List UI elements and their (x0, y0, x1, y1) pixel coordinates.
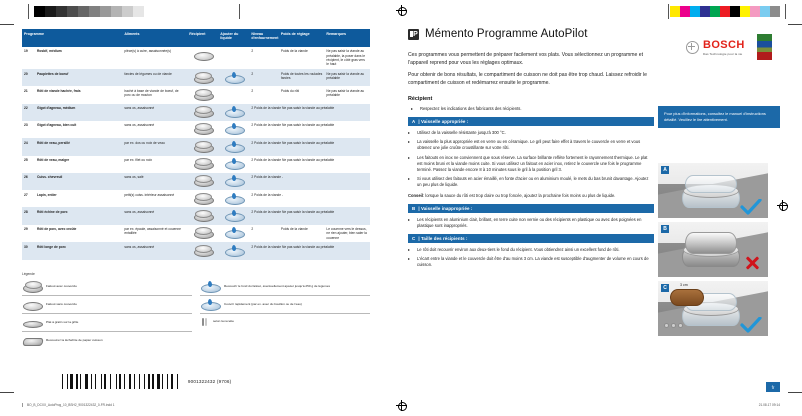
cell-recipient (187, 207, 218, 224)
cell-aliments: petit(s) cuiss. intérieur assaisonné (122, 190, 187, 207)
pot-lid-icon (193, 245, 213, 256)
cell-niveau: 2 (249, 86, 278, 103)
cell-recipient (187, 225, 218, 243)
cell-aliments: pièce(s) à cuire, assaisonnée(s) (122, 47, 187, 69)
cell-programme: 26Cuiss. chevreuil (22, 173, 122, 190)
column-header-poids: Poids de réglage (279, 29, 325, 47)
registration-mark-right-icon (777, 200, 788, 211)
cell-liquide (218, 225, 249, 243)
pot-lid-icon (193, 106, 213, 117)
crop-mark (788, 24, 802, 25)
drop-icon (224, 158, 244, 169)
legend-column-left: Faitout avec couvercleFaitout sans couve… (22, 278, 192, 349)
registration-mark-top-icon (396, 5, 407, 16)
grey-ramp (34, 6, 155, 17)
legend-row-label: Couvrir rapidement (par ex. avec du boui… (224, 302, 302, 306)
legend-row: Recouvrez la lèchefrite de papier cuisso… (22, 332, 192, 349)
table-header-row: Programme Aliments Récipient Ajouter du … (22, 29, 370, 47)
cell-recipient (187, 190, 218, 207)
recipient-heading: Récipient (408, 96, 654, 102)
conseil-line: Conseil: lorsque la sauce du rôti est tr… (408, 193, 654, 199)
cell-aliments: haché à base de viande de boeuf, de porc… (122, 86, 187, 103)
intro-text: Ces programmes vous permettent de prépar… (408, 51, 654, 87)
cell-remarques: Ne pas saisir la viande au préalable, la… (324, 47, 370, 69)
drop-icon (224, 245, 244, 256)
arrow-bullet-icon: ▸ (408, 139, 413, 151)
legend-row: Faitout avec couvercle (22, 278, 192, 296)
pot-lid-icon (193, 158, 213, 169)
section-a-bullets: ▸Utilisez de la vaisselle résistante jus… (408, 130, 654, 189)
book-icon (200, 317, 209, 326)
cell-programme: 25Rôti de veau, maigre (22, 156, 122, 173)
cell-recipient (187, 156, 218, 173)
section-c-letter: C (412, 236, 417, 241)
table-row: 25Rôti de veau, maigrepar ex. filet ou n… (22, 156, 370, 173)
section-bullet-text: L'écart entre la viande et le couvercle … (417, 256, 654, 268)
cell-liquide (218, 47, 249, 69)
table-body: 19Rosbif, médiumpièce(s) à cuire, assais… (22, 47, 370, 260)
column-header-programme: Programme (22, 29, 122, 47)
drop-icon (224, 210, 244, 221)
cell-aliments: par ex. épaule, assaisonné et couenne en… (122, 225, 187, 243)
drop-icon (224, 123, 244, 134)
print-datestamp: 21.08.17 09:14 (759, 403, 780, 407)
cell-liquide (218, 104, 249, 121)
arrow-bullet-icon: ▸ (411, 106, 416, 112)
cell-poids: Poids de la viande (279, 225, 325, 243)
drop-icon (224, 141, 244, 152)
section-bullet-text: Si vous utilisez des faitouts en acier é… (417, 176, 654, 188)
program-badge-icon: P (408, 29, 419, 40)
cell-aliments: sans os, assaisonné (122, 104, 187, 121)
table-row: 27Lapin, entierpetit(s) cuiss. intérieur… (22, 190, 370, 207)
section-bullet: ▸La vaisselle la plus appropriée est en … (408, 139, 654, 151)
color-bar (670, 6, 780, 17)
programme-table-section: Programme Aliments Récipient Ajouter du … (22, 29, 370, 260)
conseil-text: : lorsque la sauce du rôti est trop clai… (423, 193, 615, 198)
column-header-remarques: Remarques (324, 29, 370, 47)
programme-table: Programme Aliments Récipient Ajouter du … (22, 29, 370, 260)
cell-programme: 20Paupiettes de boeuf (22, 69, 122, 86)
baking-tray-icon (22, 335, 42, 346)
brand-slogan: Das Technologie pour la vie (703, 53, 745, 56)
legend-row-label: Faitout avec couvercle (46, 284, 77, 288)
table-row: 21Rôti de viande hachée, fraishaché à ba… (22, 86, 370, 103)
figure-c-measure-label: 3 cm (680, 283, 688, 287)
legend-section: Légende Faitout avec couvercleFaitout sa… (22, 272, 370, 349)
cell-liquide (218, 190, 249, 207)
cell-merged-niveau-poids-remarques: 2 Poids de la viande Ne pas saisir la vi… (249, 121, 370, 138)
cell-aliments: par ex. filet ou noix (122, 156, 187, 173)
pot-lid-icon (22, 281, 42, 292)
drop-icon (224, 175, 244, 186)
section-b-letter: B (412, 206, 417, 211)
barcode-number: 9001322432 (9706) (188, 379, 232, 384)
cell-niveau: 2 (249, 47, 278, 69)
cell-merged-niveau-poids-remarques: 2 Poids de la viande - (249, 173, 370, 190)
cell-remarques: Ne pas saisir la viande au préalable (324, 69, 370, 86)
cell-merged-niveau-poids-remarques: 2 Poids de la viande Ne pas saisir la vi… (249, 104, 370, 121)
cell-programme: 30Rôti longe de porc (22, 242, 122, 259)
table-row: 20Paupiettes de boeuffarcies de légumes … (22, 69, 370, 86)
check-mark-icon (740, 317, 762, 333)
pot-lid-icon (193, 210, 213, 221)
cell-programme: 22Gigot d'agneau, médium (22, 104, 122, 121)
cell-poids: Poids de la viande (279, 47, 325, 69)
drop-icon (224, 72, 244, 83)
cell-programme: 21Rôti de viande hachée, frais (22, 86, 122, 103)
cell-recipient (187, 138, 218, 155)
drop-icon (200, 281, 220, 292)
cell-aliments: par ex. dos ou noix de veau (122, 138, 187, 155)
pot-lid-icon (193, 175, 213, 186)
title-row: P Mémento Programme AutoPilot (408, 28, 654, 40)
section-bullet-text: Utilisez de la vaisselle résistante jusq… (417, 130, 506, 136)
legend-title: Légende (22, 272, 370, 276)
cell-poids: Poids de toutes les roulades farcies (279, 69, 325, 86)
section-a-label: Vaisselle appropriée : (421, 119, 468, 124)
section-bullet-text: Le rôti doit recouvrir environ aux deux-… (417, 247, 620, 253)
pot-nolid-icon (22, 299, 42, 310)
legend-row-label: Plat à gratin sur la grille (46, 320, 78, 324)
cell-programme: 29Rôti de porc, avec croûte (22, 225, 122, 243)
section-bullet-text: La vaisselle la plus appropriée est en v… (417, 139, 654, 151)
page-root: Programme Aliments Récipient Ajouter du … (0, 0, 802, 416)
section-c-label: Taille des récipients : (421, 236, 468, 241)
barcode-block: 9001322432 (9706) (62, 374, 231, 389)
figure-a-tag: A (661, 166, 669, 174)
legend-row-label: selon la recette (213, 319, 234, 323)
drop-icon (224, 227, 244, 238)
table-row: 30Rôti longe de porcsans os, assaisonné2… (22, 242, 370, 259)
recipient-bullet-text: Respectez les indications des fabricants… (420, 106, 522, 112)
figure-c: C 3 cm (658, 281, 768, 336)
crop-mark (788, 392, 802, 393)
crop-mark (0, 392, 14, 393)
cell-programme: 24Rôti de veau, persillé (22, 138, 122, 155)
cell-aliments: sans os, salé (122, 173, 187, 190)
section-bullet: ▸Si vous utilisez des faitouts en acier … (408, 176, 654, 188)
drop-icon (224, 193, 244, 204)
cell-liquide (218, 121, 249, 138)
plate-grill-icon (22, 317, 42, 328)
section-bullet: ▸Utilisez de la vaisselle résistante jus… (408, 130, 654, 136)
cell-liquide (218, 138, 249, 155)
table-row: 26Cuiss. chevreuilsans os, salé2 Poids d… (22, 173, 370, 190)
cell-programme: 27Lapin, entier (22, 190, 122, 207)
cell-recipient (187, 86, 218, 103)
cell-liquide (218, 156, 249, 173)
cell-niveau: 2 (249, 69, 278, 86)
print-filename: BO_B_DCXX_AutoProg_10_BSH2_9001322432_0-… (22, 403, 115, 407)
arrow-bullet-icon: ▸ (408, 155, 413, 174)
section-b-header: B | Vaisselle inappropriée : (408, 204, 654, 213)
glass-dish-icon (682, 175, 738, 205)
legend-row-label: Recouvrir le fond du faitout, éventuelle… (224, 284, 330, 288)
barcode-bars-icon (62, 374, 181, 389)
section-b-label: Vaisselle inappropriée : (421, 206, 472, 211)
table-row: 24Rôti de veau, persillépar ex. dos ou n… (22, 138, 370, 155)
pot-lid-icon (193, 89, 213, 100)
arrow-bullet-icon: ▸ (408, 217, 413, 229)
legend-row: Plat à gratin sur la grille (22, 314, 192, 332)
cell-recipient (187, 104, 218, 121)
cell-recipient (187, 242, 218, 259)
cell-merged-niveau-poids-remarques: 2 Poids de la viande Ne pas saisir la vi… (249, 242, 370, 259)
cell-aliments: sans os, assaisonné (122, 121, 187, 138)
figures-column: A B C 3 cm (658, 163, 768, 340)
table-row: 19Rosbif, médiumpièce(s) à cuire, assais… (22, 47, 370, 69)
legend-row: Recouvrir le fond du faitout, éventuelle… (200, 278, 370, 296)
page-title: Mémento Programme AutoPilot (425, 28, 588, 40)
pot-lid-icon (193, 141, 213, 152)
table-row: 28Rôti échine de porcsans os, assaisonné… (22, 207, 370, 224)
legend-column-right: Recouvrir le fond du faitout, éventuelle… (200, 278, 370, 349)
cell-remarques: Le couenne vers le dessus, ne rien ajout… (324, 225, 370, 243)
arrow-bullet-icon: ▸ (408, 176, 413, 188)
brand-name: BOSCH (703, 40, 745, 51)
figure-b: B (658, 222, 768, 277)
section-bullet: ▸L'écart entre la viande et le couvercle… (408, 256, 654, 268)
cell-liquide (218, 173, 249, 190)
metal-dish-icon (682, 234, 738, 264)
table-row: 22Gigot d'agneau, médiumsans os, assaiso… (22, 104, 370, 121)
arrow-bullet-icon: ▸ (408, 130, 413, 136)
section-b-bullets: ▸Les récipients en aluminium clair, bril… (408, 217, 654, 229)
crop-mark (0, 24, 14, 25)
control-knobs-icon (664, 323, 683, 328)
locale-badge: fr (766, 382, 780, 392)
cell-liquide (218, 207, 249, 224)
bosch-logo: BOSCH Das Technologie pour la vie (686, 40, 745, 56)
section-bullet-text: Les faitouts en inox ne conviennent que … (417, 155, 654, 174)
legend-row-label: Recouvrez la lèchefrite de papier cuisso… (46, 338, 103, 342)
cell-aliments: farcies de légumes ou de viande (122, 69, 187, 86)
pot-lid-icon (193, 72, 213, 83)
registration-mark-bottom-icon (396, 400, 407, 411)
column-header-ajouter-liquide: Ajouter du liquide (218, 29, 249, 47)
cell-liquide (218, 69, 249, 86)
cell-liquide (218, 86, 249, 103)
cell-aliments: sans os, assaisonné (122, 207, 187, 224)
legend-row: selon la recette (200, 314, 370, 329)
section-bullet: ▸Le rôti doit recouvrir environ aux deux… (408, 247, 654, 253)
cell-recipient (187, 69, 218, 86)
cell-recipient (187, 47, 218, 69)
figure-b-tag: B (661, 225, 669, 233)
section-bullet-text: Les récipients en aluminium clair, brill… (417, 217, 654, 229)
roast-meat-icon (670, 289, 704, 306)
cell-poids: Poids du rôti (279, 86, 325, 103)
table-row: 29Rôti de porc, avec croûtepar ex. épaul… (22, 225, 370, 243)
section-a-letter: A (412, 119, 417, 124)
legend-row: Faitout sans couvercle (22, 296, 192, 314)
drop-icon (200, 299, 220, 310)
pot-nolid-icon (193, 49, 213, 60)
content-column: P Mémento Programme AutoPilot Ces progra… (408, 28, 654, 271)
recipient-bullet: ▸ Respectez les indications des fabrican… (408, 106, 654, 112)
arrow-bullet-icon: ▸ (408, 256, 413, 268)
cell-aliments: sans os, assaisonné (122, 242, 187, 259)
column-header-recipient: Récipient (187, 29, 218, 47)
cell-remarques: Ne pas saisir la viande au préalable (324, 86, 370, 103)
info-box: Pour plus d'informations, consultez le m… (658, 106, 780, 128)
drop-icon (224, 106, 244, 117)
pot-lid-icon (193, 193, 213, 204)
column-header-niveau: Niveau d'enfournement (249, 29, 278, 47)
cross-mark-icon (744, 255, 760, 271)
intro-paragraph-1: Ces programmes vous permettent de prépar… (408, 51, 654, 68)
section-bullet: ▸Les faitouts en inox ne conviennent que… (408, 155, 654, 174)
cell-recipient (187, 173, 218, 190)
brand-color-flag (757, 34, 772, 60)
table-row: 23Gigot d'agneau, bien cuitsans os, assa… (22, 121, 370, 138)
section-c-bullets: ▸Le rôti doit recouvrir environ aux deux… (408, 247, 654, 269)
pot-lid-icon (193, 123, 213, 134)
cell-programme: 23Gigot d'agneau, bien cuit (22, 121, 122, 138)
figure-a: A (658, 163, 768, 218)
pot-lid-icon (193, 227, 213, 238)
column-header-aliments: Aliments (122, 29, 187, 47)
cell-merged-niveau-poids-remarques: 2 Poids de la viande Ne pas saisir la vi… (249, 156, 370, 173)
section-a-header: A | Vaisselle appropriée : (408, 117, 654, 126)
cell-programme: 28Rôti échine de porc (22, 207, 122, 224)
legend-row-label: Faitout sans couvercle (46, 302, 77, 306)
cell-merged-niveau-poids-remarques: 2 Poids de la viande - (249, 190, 370, 207)
check-mark-icon (740, 199, 762, 215)
bosch-anchor-icon (686, 41, 699, 54)
cell-merged-niveau-poids-remarques: 2 Poids de la viande Ne pas saisir la vi… (249, 138, 370, 155)
cell-programme: 19Rosbif, médium (22, 47, 122, 69)
section-c-header: C | Taille des récipients : (408, 234, 654, 243)
cell-niveau: 2 (249, 225, 278, 243)
cell-merged-niveau-poids-remarques: 2 Poids de la viande Ne pas saisir la vi… (249, 207, 370, 224)
figure-c-tag: C (661, 284, 669, 292)
section-bullet: ▸Les récipients en aluminium clair, bril… (408, 217, 654, 229)
arrow-bullet-icon: ▸ (408, 247, 413, 253)
cell-liquide (218, 242, 249, 259)
conseil-label: Conseil (408, 193, 423, 198)
intro-paragraph-2: Pour obtenir de bons résultats, le compa… (408, 71, 654, 88)
cell-recipient (187, 121, 218, 138)
legend-row: Couvrir rapidement (par ex. avec du boui… (200, 296, 370, 314)
